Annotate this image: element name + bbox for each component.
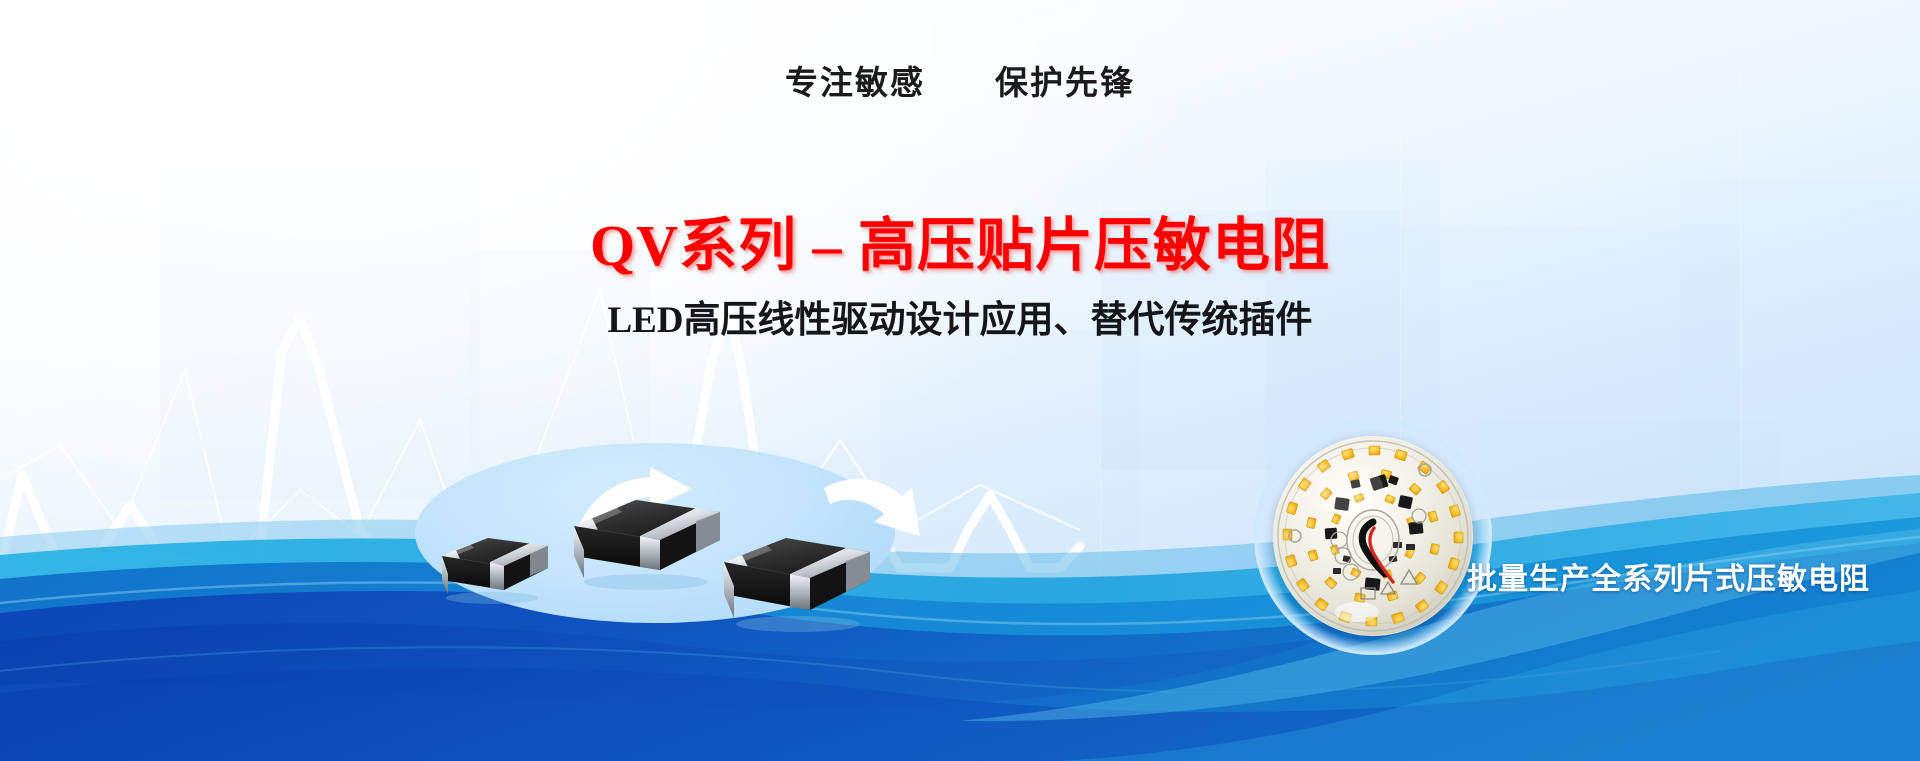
product-banner: 专注敏感 保护先锋 QV系列 – 高压贴片压敏电阻 LED高压线性驱动设计应用、… — [0, 0, 1920, 761]
led-pcb-module — [1273, 436, 1473, 636]
page-title: QV系列 – 高压贴片压敏电阻 — [0, 198, 1920, 282]
bottom-caption: 批量生产全系列片式压敏电阻 — [0, 554, 1870, 598]
subtitle: LED高压线性驱动设计应用、替代传统插件 — [0, 289, 1920, 343]
blue-wave-decoration — [0, 341, 1920, 761]
tagline: 专注敏感 保护先锋 — [0, 56, 1920, 104]
